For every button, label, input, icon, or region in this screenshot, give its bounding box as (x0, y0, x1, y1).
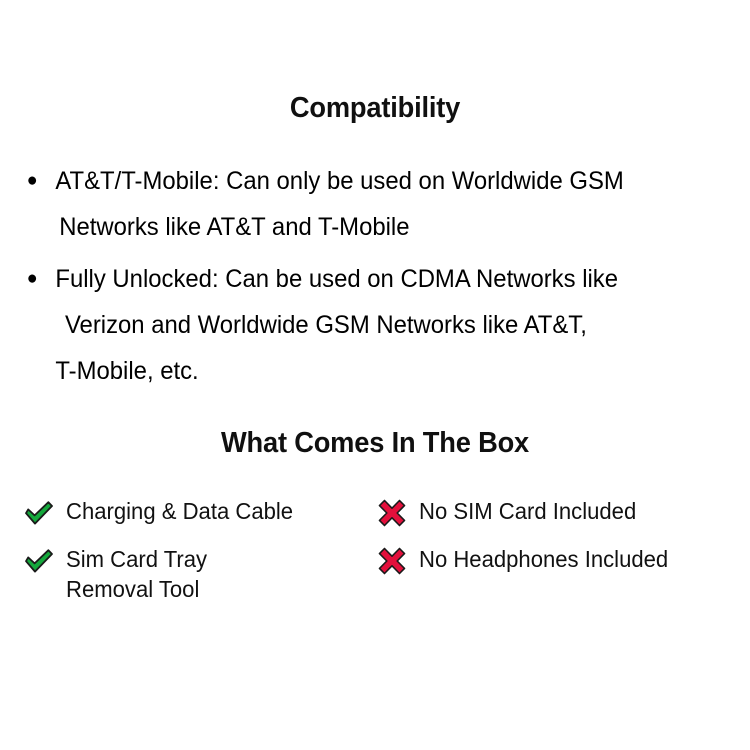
green-check-icon (22, 496, 56, 530)
list-item: Fully Unlocked: Can be used on CDMA Netw… (0, 256, 750, 394)
box-item-label: No Headphones Included (419, 542, 668, 574)
box-item-included: Charging & Data Cable (0, 494, 370, 530)
bullet-text-line: Networks like AT&T and T-Mobile (0, 204, 716, 250)
list-item: AT&T/T-Mobile: Can only be used on World… (0, 158, 750, 250)
product-info-panel: Compatibility AT&T/T-Mobile: Can only be… (0, 0, 750, 750)
box-item-excluded: No Headphones Included (370, 542, 750, 578)
bullet-dot-icon (27, 256, 56, 302)
red-cross-icon (375, 496, 409, 530)
table-row: Charging & Data Cable No SIM Card Includ… (0, 494, 750, 530)
row-spacer (0, 530, 750, 542)
box-contents-heading: What Comes In The Box (23, 427, 728, 460)
compatibility-list: AT&T/T-Mobile: Can only be used on World… (0, 158, 750, 400)
box-item-label: Charging & Data Cable (66, 494, 293, 526)
bullet-dot-icon (27, 158, 56, 204)
green-check-icon (22, 544, 56, 578)
bullet-text-line: Verizon and Worldwide GSM Networks like … (0, 302, 716, 348)
box-contents-grid: Charging & Data Cable No SIM Card Includ… (0, 494, 750, 604)
bullet-text-line: T-Mobile, etc. (0, 348, 716, 394)
compatibility-heading: Compatibility (23, 92, 728, 125)
box-item-label: Sim Card Tray Removal Tool (66, 542, 253, 604)
box-item-label: No SIM Card Included (419, 494, 636, 526)
red-cross-icon (375, 544, 409, 578)
box-item-excluded: No SIM Card Included (370, 494, 750, 530)
box-item-included: Sim Card Tray Removal Tool (0, 542, 370, 604)
bullet-text-line: AT&T/T-Mobile: Can only be used on World… (55, 158, 623, 204)
table-row: Sim Card Tray Removal Tool No Headphones… (0, 542, 750, 604)
bullet-text-line: Fully Unlocked: Can be used on CDMA Netw… (55, 256, 618, 302)
